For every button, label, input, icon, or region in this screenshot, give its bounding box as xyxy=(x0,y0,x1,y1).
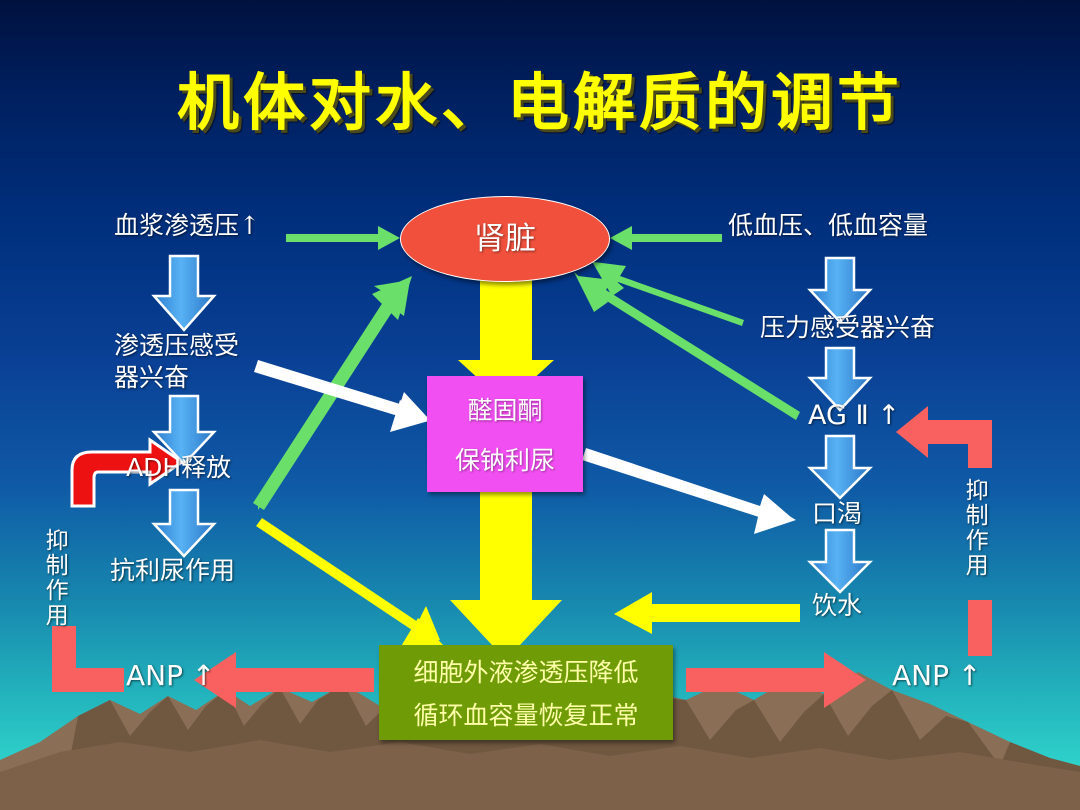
label-thirst: 口渴 xyxy=(812,498,862,530)
node-aldosterone-line2: 保钠利尿 xyxy=(455,441,555,477)
label-adh-release: ADH释放 xyxy=(126,452,231,484)
label-osmoreceptor: 渗透压感受 器兴奋 xyxy=(114,330,239,394)
label-inhibition-left: 抑制作用 xyxy=(42,528,66,628)
label-osmoreceptor-line2: 器兴奋 xyxy=(114,362,239,394)
yellow-arrow-adh-to-outcome xyxy=(256,518,444,648)
blue-arrow-ag2-to-thirst xyxy=(810,436,870,498)
label-drinking-water: 饮水 xyxy=(812,590,862,622)
label-antidiuretic-effect: 抗利尿作用 xyxy=(110,555,235,587)
node-aldosterone[interactable]: 醛固酮 保钠利尿 xyxy=(427,376,583,492)
label-low-blood-pressure: 低血压、低血容量 xyxy=(728,210,928,242)
node-outcome-line1: 细胞外液渗透压降低 xyxy=(413,653,638,689)
label-baroreceptor: 压力感受器兴奋 xyxy=(760,312,935,344)
blue-arrow-plasma-to-osmoreceptor xyxy=(154,256,214,330)
label-anp-left: ANP ↑ xyxy=(126,660,215,692)
page-title: 机体对水、电解质的调节 xyxy=(0,52,1080,142)
yellow-arrow-aldosterone-to-outcome xyxy=(450,492,562,660)
white-arrow-aldosterone-to-thirst xyxy=(582,448,796,534)
white-arrow-osmoreceptor-to-aldosterone xyxy=(254,360,432,432)
green-arrow-lowbp-to-kidney xyxy=(610,226,722,250)
green-arrow-plasma-to-kidney xyxy=(286,226,400,250)
blue-arrow-thirst-to-drinking xyxy=(810,530,870,592)
label-angiotensin-2: AG Ⅱ ↑ xyxy=(808,400,900,432)
salmon-inhibition-line-left xyxy=(52,626,124,692)
label-plasma-osmolality: 血浆渗透压↑ xyxy=(114,210,260,242)
salmon-arrow-outcome-to-left-anp xyxy=(194,652,374,708)
node-outcome-line2: 循环血容量恢复正常 xyxy=(413,696,638,732)
blue-arrow-adh-to-antidiuretic xyxy=(154,490,214,556)
green-arrow-ag2-to-kidney xyxy=(574,272,800,420)
green-arrow-adh-to-kidney xyxy=(253,276,412,510)
node-aldosterone-line1: 醛固酮 xyxy=(467,391,542,427)
green-arrow-baroreceptor-to-kidney xyxy=(590,258,744,326)
label-anp-right: ANP ↑ xyxy=(892,660,981,692)
label-osmoreceptor-line1: 渗透压感受 xyxy=(114,330,239,362)
slide-canvas: 机体对水、电解质的调节 肾脏 醛固酮 保钠利尿 细胞外液渗透压降低 循环血容量恢… xyxy=(0,0,1080,810)
node-kidney[interactable]: 肾脏 xyxy=(400,196,610,282)
node-kidney-label: 肾脏 xyxy=(401,197,609,281)
salmon-arrow-outcome-to-right-anp xyxy=(686,652,866,708)
node-outcome[interactable]: 细胞外液渗透压降低 循环血容量恢复正常 xyxy=(379,645,673,740)
yellow-arrow-drinking-to-outcome xyxy=(614,592,800,634)
label-inhibition-right: 抑制作用 xyxy=(962,478,986,578)
